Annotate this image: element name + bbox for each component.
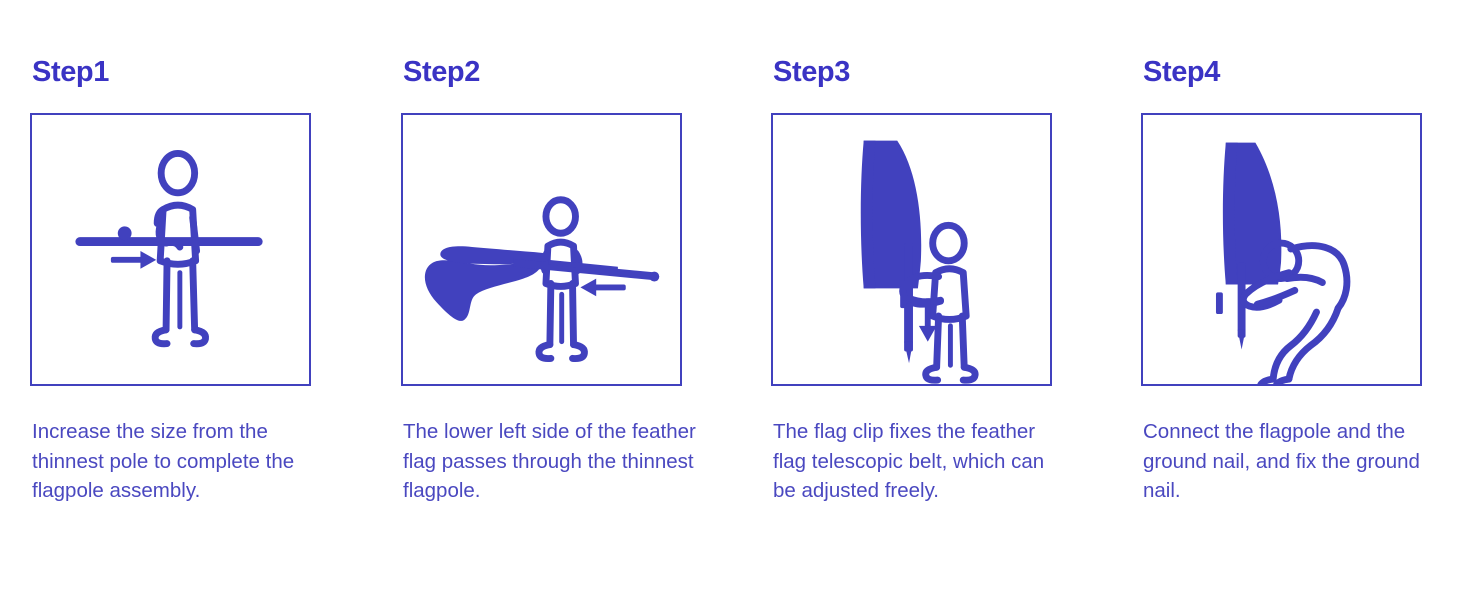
step-panel-1: Step1 <box>30 0 330 600</box>
step-title-1: Step1 <box>32 56 109 89</box>
step-title-2: Step2 <box>403 56 480 89</box>
step-title-4: Step4 <box>1143 56 1220 89</box>
step-caption-4: Connect the flagpole and the ground nail… <box>1143 417 1439 506</box>
illustration-upright-flag-with-clip <box>773 115 1050 384</box>
arrow-left-icon <box>580 279 625 297</box>
flagpole-horizontal <box>75 226 262 246</box>
step-title-3: Step3 <box>773 56 850 89</box>
illustration-person-fixing-ground-nail <box>1143 115 1420 384</box>
step-caption-1: Increase the size from the thinnest pole… <box>32 417 328 506</box>
arrow-right-icon <box>111 251 156 269</box>
step-panel-3: Step3 <box>771 0 1071 600</box>
illustration-person-with-horizontal-pole <box>32 115 309 384</box>
step-panel-2: Step2 <box>401 0 701 600</box>
step-caption-3: The flag clip fixes the feather flag tel… <box>773 417 1069 506</box>
step-illustration-frame-4 <box>1141 113 1422 386</box>
illustration-flag-threaded-on-pole <box>403 115 680 384</box>
feather-flag-fabric <box>425 260 541 321</box>
step-illustration-frame-2 <box>401 113 682 386</box>
step-caption-2: The lower left side of the feather flag … <box>403 417 699 506</box>
step-panel-4: Step4 <box>1141 0 1441 600</box>
ground-nail <box>1216 292 1223 314</box>
step-illustration-frame-3 <box>771 113 1052 386</box>
instruction-board: Step1 <box>0 0 1464 600</box>
step-illustration-frame-1 <box>30 113 311 386</box>
